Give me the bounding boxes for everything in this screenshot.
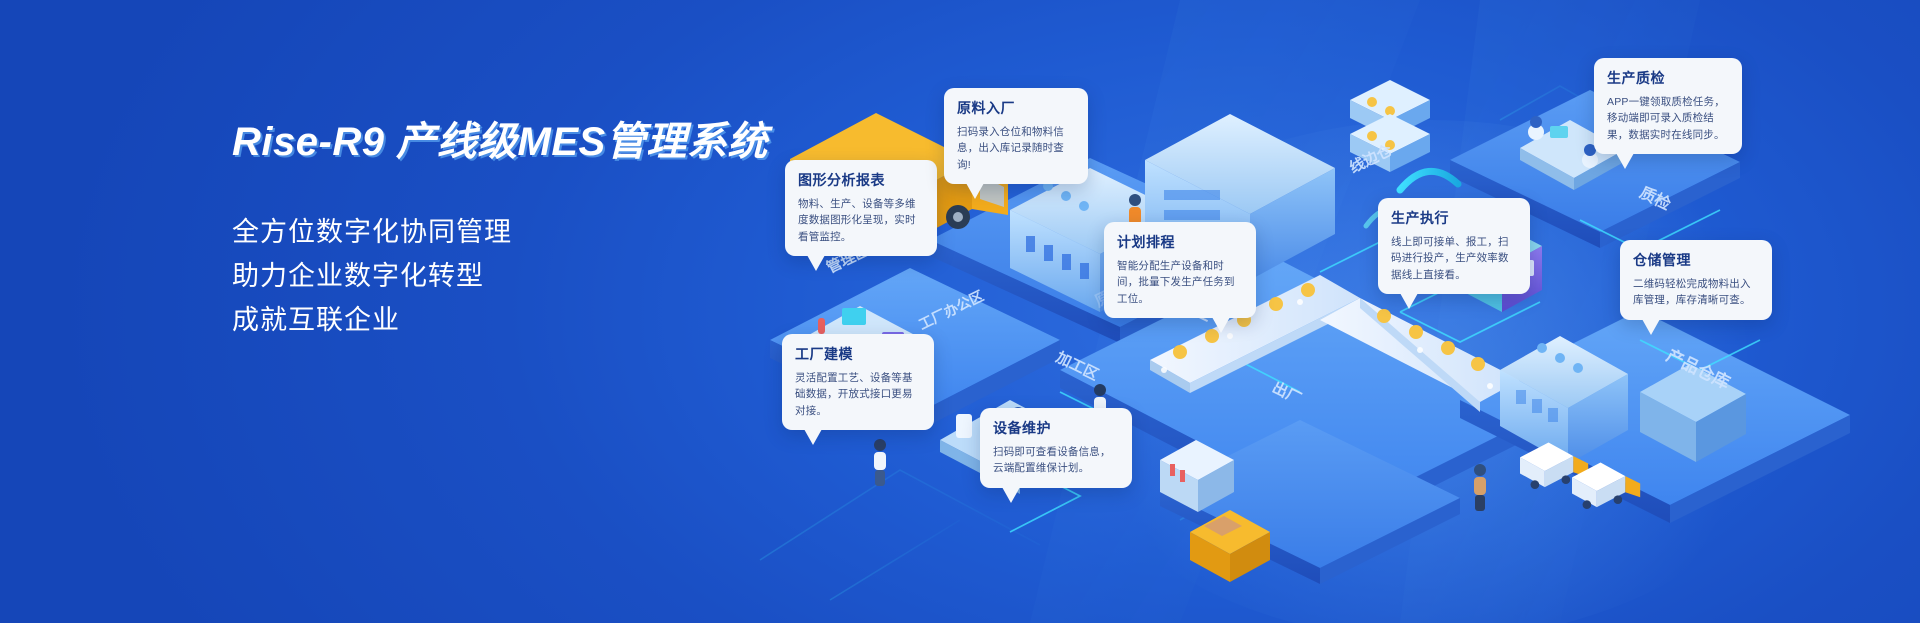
callout-card-material-inbound[interactable]: 原料入厂 扫码录入仓位和物料信息，出入库记录随时查询!: [944, 88, 1088, 184]
card-tail-icon: [1212, 317, 1230, 333]
card-title: 工厂建模: [795, 344, 921, 364]
callout-card-graphic-report[interactable]: 图形分析报表 物料、生产、设备等多维度数据图形化呈现，实时看管监控。: [785, 160, 937, 256]
hero-sublines: 全方位数字化协同管理 助力企业数字化转型 成就互联企业: [232, 210, 852, 342]
card-description: 线上即可接单、报工，扫码进行投产，生产效率数据线上直接看。: [1391, 234, 1517, 283]
card-description: 扫码即可查看设备信息，云端配置维保计划。: [993, 444, 1119, 477]
hero-subline: 成就互联企业: [232, 298, 852, 342]
hero-subline: 助力企业数字化转型: [232, 254, 852, 298]
page-title: Rise-R9 产线级MES管理系统: [232, 120, 852, 164]
card-tail-icon: [1616, 153, 1634, 169]
callout-card-warehouse-management[interactable]: 仓储管理 二维码轻松完成物料出入库管理，库存清晰可查。: [1620, 240, 1772, 320]
card-description: 智能分配生产设备和时间，批量下发生产任务到工位。: [1117, 258, 1243, 307]
card-description: 扫码录入仓位和物料信息，出入库记录随时查询!: [957, 124, 1075, 173]
card-tail-icon: [1400, 293, 1418, 309]
card-tail-icon: [1642, 319, 1660, 335]
card-title: 设备维护: [993, 418, 1119, 438]
card-description: 灵活配置工艺、设备等基础数据，开放式接口更易对接。: [795, 370, 921, 419]
card-tail-icon: [807, 255, 825, 271]
card-description: 二维码轻松完成物料出入库管理，库存清晰可查。: [1633, 276, 1759, 309]
callout-card-plan-scheduling[interactable]: 计划排程 智能分配生产设备和时间，批量下发生产任务到工位。: [1104, 222, 1256, 318]
isometric-factory-scene: [760, 40, 1920, 600]
card-title: 计划排程: [1117, 232, 1243, 252]
callout-card-production-execution[interactable]: 生产执行 线上即可接单、报工，扫码进行投产，生产效率数据线上直接看。: [1378, 198, 1530, 294]
hero-subline: 全方位数字化协同管理: [232, 210, 852, 254]
callout-card-equipment-maintenance[interactable]: 设备维护 扫码即可查看设备信息，云端配置维保计划。: [980, 408, 1132, 488]
card-tail-icon: [1002, 487, 1020, 503]
card-title: 仓储管理: [1633, 250, 1759, 270]
card-title: 图形分析报表: [798, 170, 924, 190]
callout-card-quality-inspection[interactable]: 生产质检 APP一键领取质检任务，移动端即可录入质检结果，数据实时在线同步。: [1594, 58, 1742, 154]
card-tail-icon: [966, 183, 984, 199]
card-tail-icon: [804, 429, 822, 445]
card-title: 生产质检: [1607, 68, 1729, 88]
shelving-racks: [1350, 80, 1430, 172]
hero-banner: Rise-R9 产线级MES管理系统 全方位数字化协同管理 助力企业数字化转型 …: [0, 0, 1920, 623]
card-description: APP一键领取质检任务，移动端即可录入质检结果，数据实时在线同步。: [1607, 94, 1729, 143]
card-title: 生产执行: [1391, 208, 1517, 228]
hero-copy: Rise-R9 产线级MES管理系统 全方位数字化协同管理 助力企业数字化转型 …: [232, 120, 852, 342]
callout-card-factory-modeling[interactable]: 工厂建模 灵活配置工艺、设备等基础数据，开放式接口更易对接。: [782, 334, 934, 430]
card-title: 原料入厂: [957, 98, 1075, 118]
card-description: 物料、生产、设备等多维度数据图形化呈现，实时看管监控。: [798, 196, 924, 245]
